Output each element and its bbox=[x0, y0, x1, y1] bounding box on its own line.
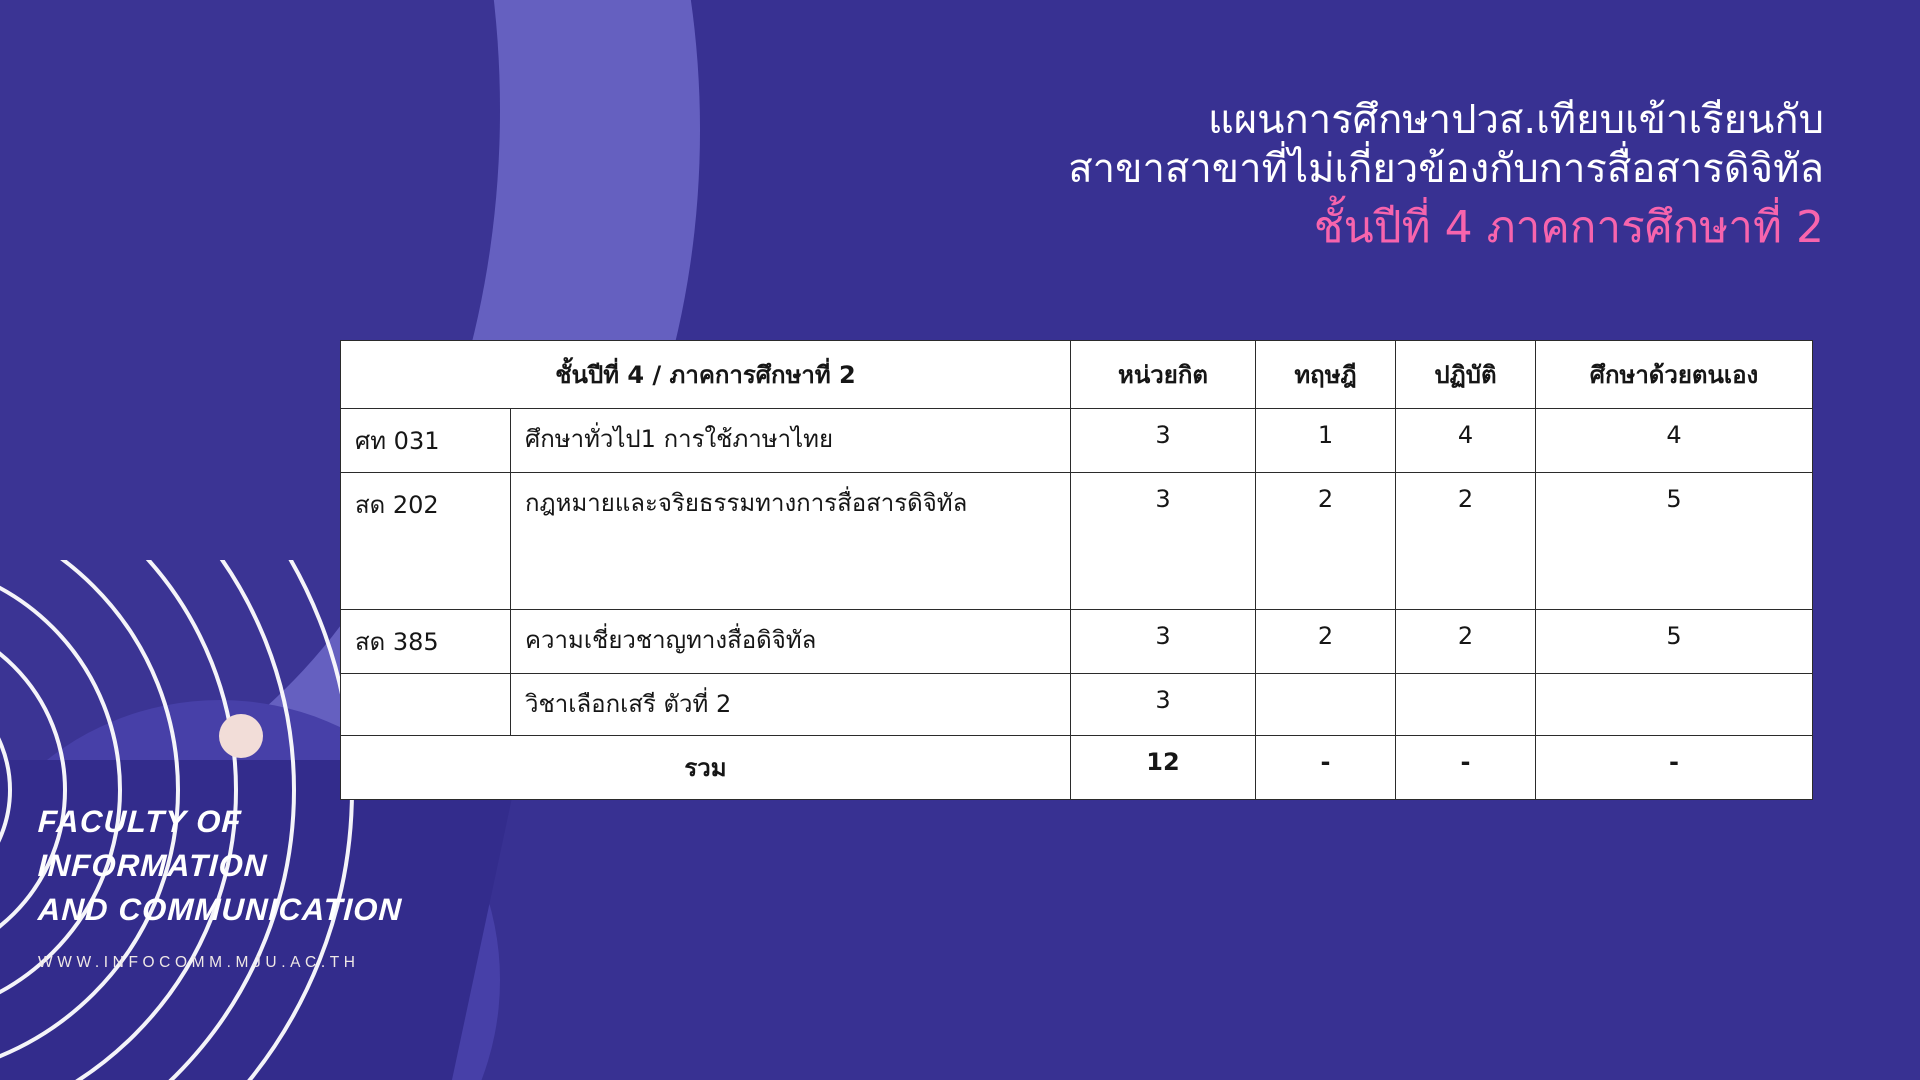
header-theory: ทฤษฎี bbox=[1256, 341, 1396, 409]
total-credit: 12 bbox=[1071, 736, 1256, 800]
cell-self-study bbox=[1536, 674, 1813, 736]
cell-credit: 3 bbox=[1071, 674, 1256, 736]
header-practice: ปฏิบัติ bbox=[1396, 341, 1536, 409]
table-header-row: ชั้นปีที่ 4 / ภาคการศึกษาที่ 2 หน่วยกิต … bbox=[341, 341, 1813, 409]
table-row: ศท 031ศึกษาทั่วไป1 การใช้ภาษาไทย3144 bbox=[341, 409, 1813, 473]
logo-line-2: INFORMATION bbox=[37, 844, 459, 888]
logo-line-1: FACULTY OF bbox=[37, 800, 459, 844]
cell-course-name: ศึกษาทั่วไป1 การใช้ภาษาไทย bbox=[511, 409, 1071, 473]
title-accent-line: ชั้นปีที่ 4 ภาคการศึกษาที่ 2 bbox=[644, 200, 1824, 256]
header-self-study: ศึกษาด้วยตนเอง bbox=[1536, 341, 1813, 409]
slide-canvas: แผนการศึกษาปวส.เทียบเข้าเรียนกับ สาขาสาข… bbox=[0, 0, 1920, 1080]
cell-course-name: กฎหมายและจริยธรรมทางการสื่อสารดิจิทัล bbox=[511, 473, 1071, 610]
cell-practice bbox=[1396, 674, 1536, 736]
table-row: สด 202กฎหมายและจริยธรรมทางการสื่อสารดิจิ… bbox=[341, 473, 1813, 610]
logo-line-3: AND COMMUNICATION bbox=[37, 888, 459, 932]
cell-credit: 3 bbox=[1071, 409, 1256, 473]
table-row: วิชาเลือกเสรี ตัวที่ 23 bbox=[341, 674, 1813, 736]
total-practice: - bbox=[1396, 736, 1536, 800]
cell-theory: 1 bbox=[1256, 409, 1396, 473]
cell-theory: 2 bbox=[1256, 610, 1396, 674]
header-credit: หน่วยกิต bbox=[1071, 341, 1256, 409]
title-line-2: สาขาสาขาที่ไม่เกี่ยวข้องกับการสื่อสารดิจ… bbox=[644, 145, 1824, 194]
title-line-1: แผนการศึกษาปวส.เทียบเข้าเรียนกับ bbox=[644, 96, 1824, 145]
table-row: สด 385ความเชี่ยวชาญทางสื่อดิจิทัล3225 bbox=[341, 610, 1813, 674]
cell-theory bbox=[1256, 674, 1396, 736]
cell-self-study: 5 bbox=[1536, 610, 1813, 674]
cell-practice: 2 bbox=[1396, 473, 1536, 610]
study-plan-table: ชั้นปีที่ 4 / ภาคการศึกษาที่ 2 หน่วยกิต … bbox=[340, 340, 1813, 800]
cell-practice: 2 bbox=[1396, 610, 1536, 674]
cell-course-name: ความเชี่ยวชาญทางสื่อดิจิทัล bbox=[511, 610, 1071, 674]
cell-course-code: สด 202 bbox=[341, 473, 511, 610]
cell-course-code bbox=[341, 674, 511, 736]
study-plan-table-container: ชั้นปีที่ 4 / ภาคการศึกษาที่ 2 หน่วยกิต … bbox=[340, 340, 1812, 800]
cell-self-study: 5 bbox=[1536, 473, 1813, 610]
page-title: แผนการศึกษาปวส.เทียบเข้าเรียนกับ สาขาสาข… bbox=[644, 96, 1824, 256]
total-label: รวม bbox=[341, 736, 1071, 800]
cell-credit: 3 bbox=[1071, 473, 1256, 610]
cell-credit: 3 bbox=[1071, 610, 1256, 674]
cell-self-study: 4 bbox=[1536, 409, 1813, 473]
accent-dot bbox=[219, 714, 263, 758]
total-self-study: - bbox=[1536, 736, 1813, 800]
cell-practice: 4 bbox=[1396, 409, 1536, 473]
cell-course-code: สด 385 bbox=[341, 610, 511, 674]
total-theory: - bbox=[1256, 736, 1396, 800]
cell-course-code: ศท 031 bbox=[341, 409, 511, 473]
cell-course-name: วิชาเลือกเสรี ตัวที่ 2 bbox=[511, 674, 1071, 736]
faculty-website-url: WWW.INFOCOMM.MJU.AC.TH bbox=[38, 954, 458, 972]
table-total-row: รวม 12 - - - bbox=[341, 736, 1813, 800]
cell-theory: 2 bbox=[1256, 473, 1396, 610]
faculty-logo-lockup: FACULTY OF INFORMATION AND COMMUNICATION… bbox=[38, 800, 458, 972]
header-term-title: ชั้นปีที่ 4 / ภาคการศึกษาที่ 2 bbox=[341, 341, 1071, 409]
